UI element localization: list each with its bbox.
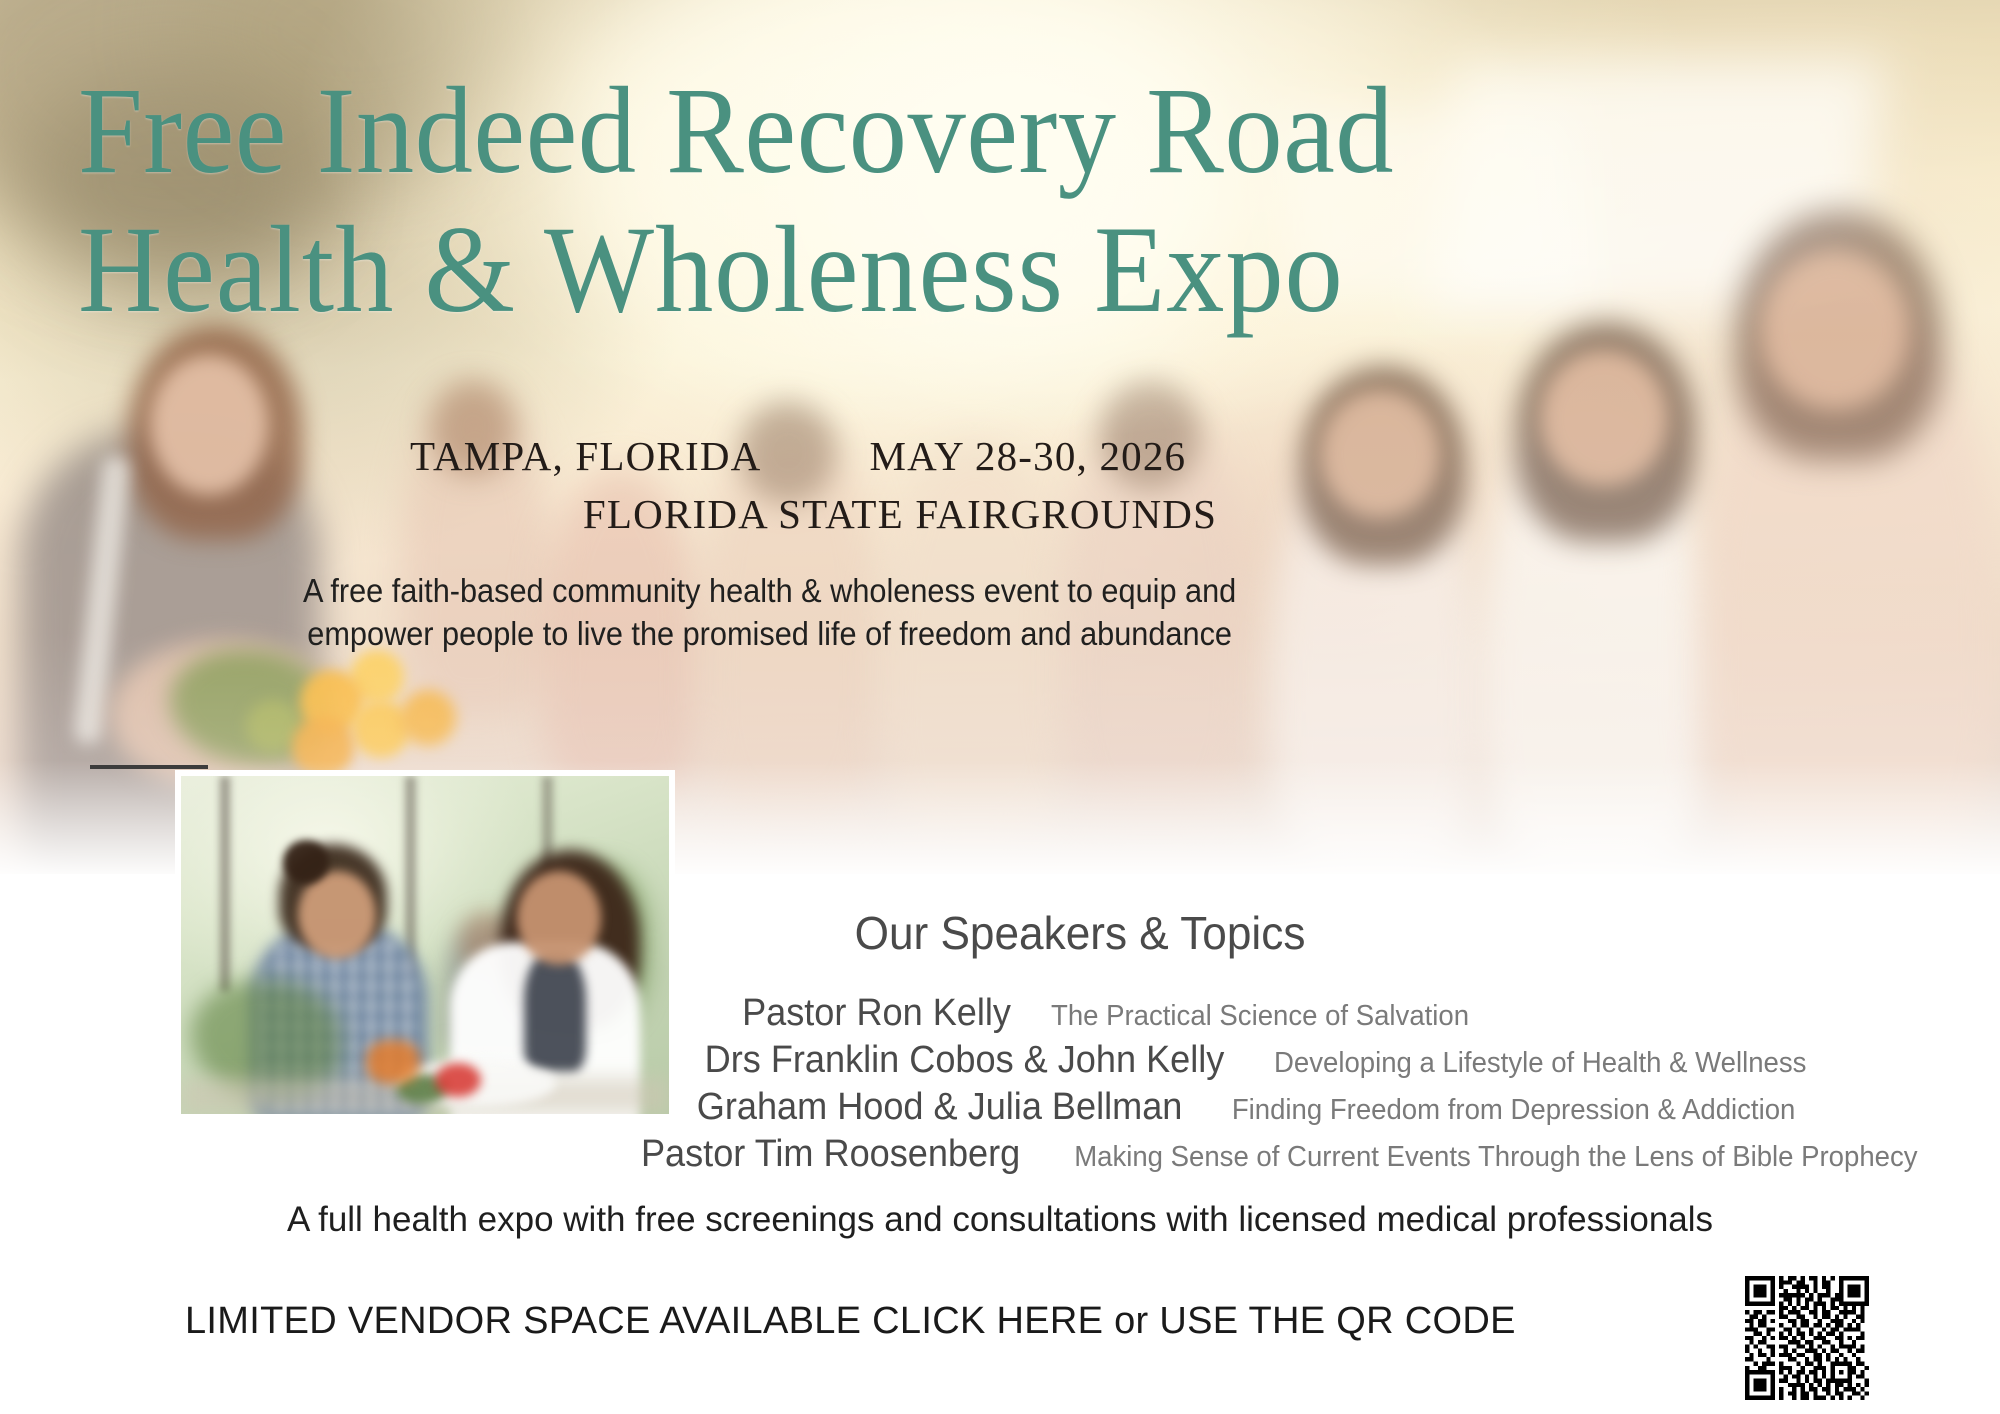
- woman-face: [150, 355, 268, 495]
- doctor-face: [517, 871, 601, 965]
- patient-hair-bun: [283, 840, 329, 884]
- woman-hair: [128, 325, 303, 540]
- speaker-topic: Making Sense of Current Events Through t…: [1074, 1141, 1917, 1174]
- speaker-name: Drs Franklin Cobos & John Kelly: [704, 1039, 1224, 1082]
- patient-plaid-shirt: [259, 931, 419, 1111]
- screenings-note: A full health expo with free screenings …: [0, 1200, 2000, 1240]
- venue-city: Tampa, Florida: [410, 432, 761, 480]
- speaker-row: Pastor Ron Kelly The Practical Science o…: [520, 992, 1940, 1035]
- event-tagline: A free faith-based community health & wh…: [300, 570, 1239, 656]
- crowd-figure-hair: [1736, 210, 1942, 460]
- title-line-2: Health & Wholeness Expo: [78, 201, 1422, 340]
- patient-face: [298, 871, 376, 959]
- crowd-figure-hair: [1516, 322, 1696, 542]
- venue-place: Florida State Fairgrounds: [583, 491, 1217, 537]
- backpack-strap: [73, 454, 131, 745]
- venue-row-place: Florida State Fairgrounds: [400, 490, 1520, 538]
- patient-hair: [279, 844, 387, 948]
- speaker-name: Pastor Tim Roosenberg: [641, 1133, 1020, 1176]
- produce-item: [350, 650, 404, 704]
- speaker-name: Pastor Ron Kelly: [742, 992, 1011, 1035]
- window-frame: [405, 776, 416, 979]
- produce-item: [352, 700, 410, 758]
- produce-item: [292, 716, 354, 778]
- speaker-row: Drs Franklin Cobos & John Kelly Developi…: [520, 1039, 1940, 1082]
- vendor-registration-qr-code[interactable]: [1745, 1276, 1869, 1400]
- crowd-figure-head: [1540, 350, 1668, 486]
- background-person-head: [459, 911, 515, 971]
- indoor-plant: [191, 980, 341, 1100]
- title-line-1: Free Indeed Recovery Road: [78, 62, 1422, 201]
- page-title: Free Indeed Recovery Road Health & Whole…: [78, 62, 1508, 340]
- speakers-heading: Our Speakers & Topics: [715, 906, 1445, 960]
- speaker-row: Graham Hood & Julia Bellman Finding Free…: [520, 1086, 1940, 1129]
- produce-item: [300, 670, 364, 734]
- speaker-name: Graham Hood & Julia Bellman: [696, 1086, 1182, 1129]
- patient-body: [249, 925, 429, 1120]
- crowd-figure-head: [1760, 250, 1910, 410]
- vendor-cta-label[interactable]: LIMITED VENDOR SPACE AVAILABLE CLICK HER…: [185, 1300, 1516, 1342]
- venue-details: Tampa, Florida May 28-30, 2026 Florida S…: [400, 432, 1520, 538]
- tagline-line-2: empower people to live the promised life…: [300, 613, 1239, 656]
- leafy-greens: [170, 650, 330, 765]
- speaker-topic: Developing a Lifestyle of Health & Welln…: [1274, 1047, 1806, 1080]
- event-poster: Free Indeed Recovery Road Health & Whole…: [0, 0, 2000, 1414]
- crowd-figure: [1700, 300, 2000, 880]
- meal-greens: [396, 1074, 448, 1104]
- speakers-list: Pastor Ron Kelly The Practical Science o…: [520, 992, 1940, 1180]
- speaker-row: Pastor Tim Roosenberg Making Sense of Cu…: [520, 1133, 1940, 1176]
- meal-produce: [366, 1040, 420, 1084]
- window-frame: [220, 776, 230, 992]
- window-frame: [542, 776, 553, 962]
- venue-date: May 28-30, 2026: [869, 432, 1186, 480]
- venue-row-city-date: Tampa, Florida May 28-30, 2026: [400, 432, 1520, 480]
- qr-code-icon[interactable]: [1745, 1276, 1869, 1400]
- produce-item: [400, 690, 456, 746]
- decorative-rule: [90, 765, 208, 769]
- produce-item: [246, 700, 300, 752]
- speaker-topic: Finding Freedom from Depression & Addict…: [1232, 1094, 1796, 1127]
- speaker-topic: The Practical Science of Salvation: [1051, 1000, 1469, 1033]
- vendor-cta[interactable]: LIMITED VENDOR SPACE AVAILABLE CLICK HER…: [185, 1300, 1516, 1343]
- tagline-line-1: A free faith-based community health & wh…: [300, 570, 1239, 613]
- meal-fruit: [435, 1063, 481, 1097]
